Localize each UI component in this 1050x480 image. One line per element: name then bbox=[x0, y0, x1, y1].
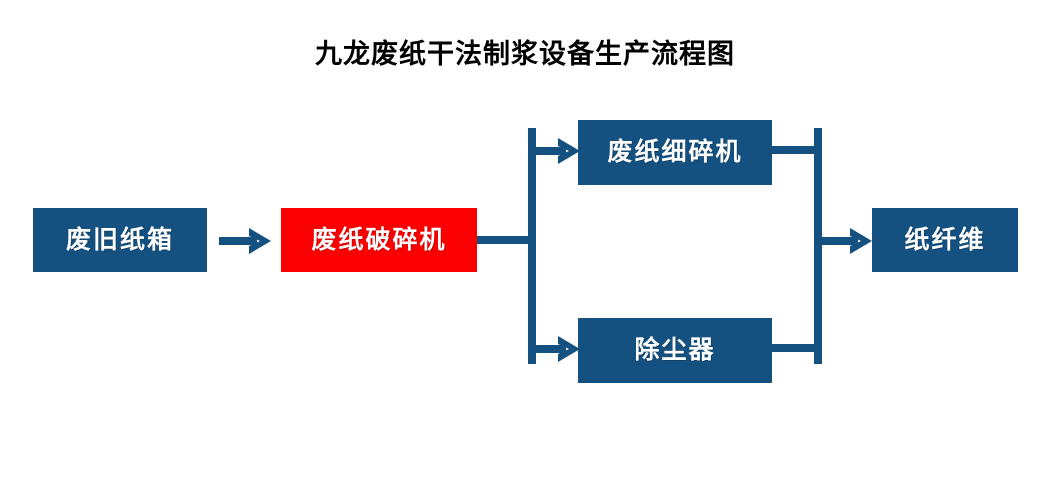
node-waste-carton[interactable]: 废旧纸箱 bbox=[33, 208, 207, 272]
node-fine-crusher-label: 废纸细碎机 bbox=[607, 140, 742, 165]
node-fine-crusher[interactable]: 废纸细碎机 bbox=[578, 120, 772, 185]
node-paper-fiber-label: 纸纤维 bbox=[904, 228, 985, 253]
arrow-carton-to-crusher bbox=[219, 226, 275, 256]
node-paper-crusher[interactable]: 废纸破碎机 bbox=[281, 208, 477, 272]
flowchart-canvas: 九龙废纸干法制浆设备生产流程图 废旧纸箱 废纸破碎机 废纸细碎机 除尘器 bbox=[0, 0, 1050, 480]
node-dust-collector[interactable]: 除尘器 bbox=[578, 318, 772, 383]
node-paper-crusher-label: 废纸破碎机 bbox=[311, 228, 446, 253]
page-title: 九龙废纸干法制浆设备生产流程图 bbox=[0, 40, 1050, 70]
node-paper-fiber[interactable]: 纸纤维 bbox=[872, 208, 1018, 272]
arrow-split-to-dust-collector bbox=[534, 335, 582, 363]
arrow-split-to-fine-crusher bbox=[534, 137, 582, 165]
node-waste-carton-label: 废旧纸箱 bbox=[66, 228, 174, 253]
arrow-merge-to-paper-fiber bbox=[820, 226, 876, 256]
node-dust-collector-label: 除尘器 bbox=[634, 338, 715, 363]
